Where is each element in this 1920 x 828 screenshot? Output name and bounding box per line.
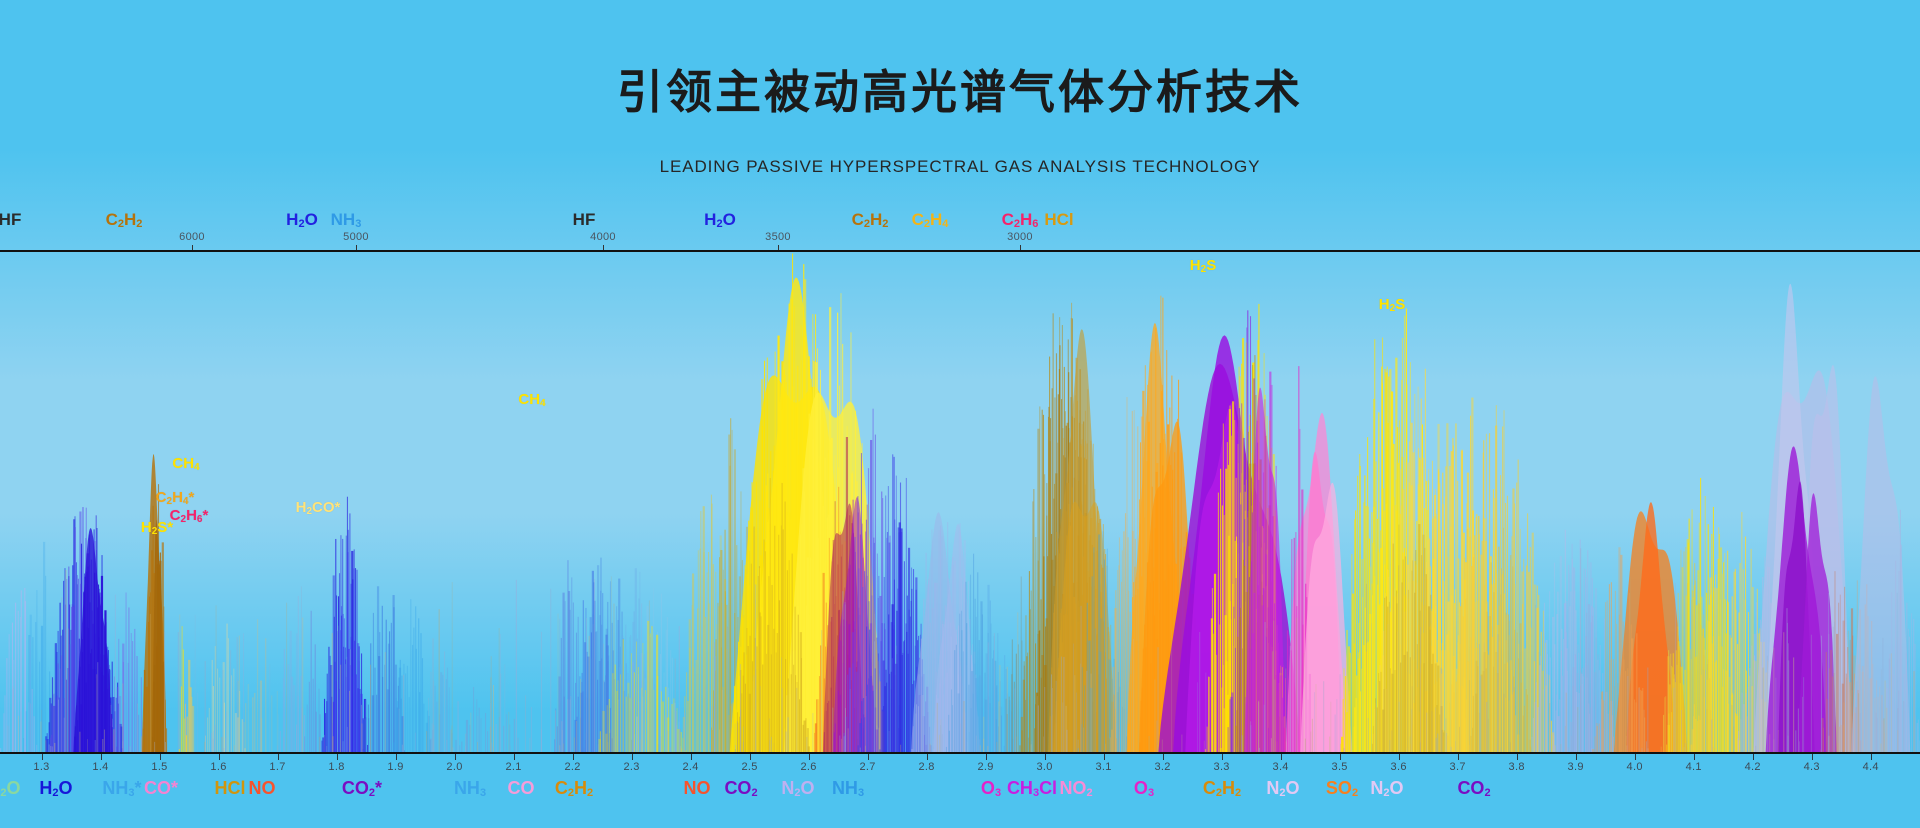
spectrum-plot: H2SCH4H2COH2SH2SCH4C2H4*C2H6*H2S*H2CO*CH… bbox=[0, 252, 1920, 752]
bottom-axis-tick bbox=[1163, 754, 1164, 760]
gas-label-costar: CO* bbox=[144, 778, 178, 799]
gas-label-ch4: CH4 bbox=[172, 455, 199, 473]
bottom-axis-tick-label: 3.4 bbox=[1273, 761, 1289, 773]
gas-label-c2h2: C2H2 bbox=[555, 778, 593, 799]
bottom-axis-tick-label: 3.2 bbox=[1155, 761, 1171, 773]
bottom-axis-tick-label: 1.9 bbox=[387, 761, 403, 773]
bottom-axis-tick-label: 4.2 bbox=[1745, 761, 1761, 773]
top-axis-tick-label: 4000 bbox=[590, 231, 616, 243]
gas-label-n2o: N2O bbox=[1266, 778, 1299, 799]
bottom-axis-tick bbox=[1694, 754, 1695, 760]
gas-label-h2o: H2O bbox=[704, 210, 736, 230]
gas-label-co2: CO2 bbox=[724, 778, 757, 799]
bottom-axis-tick-label: 2.1 bbox=[505, 761, 521, 773]
bottom-axis-tick bbox=[1340, 754, 1341, 760]
bottom-axis-tick bbox=[1635, 754, 1636, 760]
page-subtitle: LEADING PASSIVE HYPERSPECTRAL GAS ANALYS… bbox=[0, 157, 1920, 177]
bottom-axis-tick-label: 3.0 bbox=[1036, 761, 1052, 773]
top-axis-tick-label: 3500 bbox=[765, 231, 791, 243]
gas-label-ch4: CH4 bbox=[518, 391, 545, 409]
bottom-axis-tick-label: 4.0 bbox=[1627, 761, 1643, 773]
bottom-axis-tick-label: 3.7 bbox=[1450, 761, 1466, 773]
gas-label-c2h4: C2H4 bbox=[912, 210, 949, 230]
bottom-axis-tick bbox=[101, 754, 102, 760]
bottom-axis-tick bbox=[42, 754, 43, 760]
bottom-axis-tick bbox=[514, 754, 515, 760]
bottom-axis-tick bbox=[1104, 754, 1105, 760]
gas-label-c2h2: C2H2 bbox=[106, 210, 143, 230]
bottom-axis-tick bbox=[455, 754, 456, 760]
gas-label-co2: CO2 bbox=[1457, 778, 1490, 799]
bottom-axis-tick bbox=[1871, 754, 1872, 760]
gas-label-c2h2: C2H2 bbox=[1203, 778, 1241, 799]
bottom-axis-tick-label: 1.7 bbox=[269, 761, 285, 773]
bottom-axis-tick-label: 3.1 bbox=[1096, 761, 1112, 773]
gas-label-nh3: NH3 bbox=[331, 210, 362, 230]
bottom-axis-tick-label: 2.9 bbox=[977, 761, 993, 773]
gas-label-co: CO bbox=[508, 778, 535, 799]
gas-label-hcl: HCl bbox=[1044, 210, 1073, 230]
bottom-axis-tick bbox=[1045, 754, 1046, 760]
gas-label-c2h4star: C2H4* bbox=[156, 489, 195, 507]
gas-label-h2costar: H2CO* bbox=[296, 499, 341, 517]
gas-label-so2: SO2 bbox=[1326, 778, 1358, 799]
gas-label-o3: O3 bbox=[1134, 778, 1154, 799]
gas-label-n2o: N2O bbox=[0, 778, 21, 799]
gas-label-nh3: NH3 bbox=[454, 778, 486, 799]
gas-label-hf: HF bbox=[0, 210, 21, 230]
bottom-axis-tick-label: 2.8 bbox=[918, 761, 934, 773]
top-axis-tick-label: 5000 bbox=[343, 231, 369, 243]
bottom-axis-tick bbox=[927, 754, 928, 760]
top-axis-wavenumber: 60005000400035003000 HFC2H2H2ONH3HFH2OC2… bbox=[0, 200, 1920, 252]
gas-label-hf: HF bbox=[573, 210, 596, 230]
top-axis-tick-label: 3000 bbox=[1007, 231, 1033, 243]
gas-label-h2o: H2O bbox=[286, 210, 318, 230]
bottom-axis-tick-label: 2.3 bbox=[623, 761, 639, 773]
bottom-axis-tick-label: 4.3 bbox=[1804, 761, 1820, 773]
bottom-axis-tick-label: 1.6 bbox=[210, 761, 226, 773]
bottom-axis-tick-label: 1.4 bbox=[92, 761, 108, 773]
bottom-axis-tick bbox=[396, 754, 397, 760]
gas-label-h2sstar: H2S* bbox=[141, 519, 173, 537]
bottom-axis-tick bbox=[1576, 754, 1577, 760]
gas-label-c2h6: C2H6 bbox=[1002, 210, 1039, 230]
bottom-axis-wavelength: 1.31.41.51.61.71.81.92.02.12.22.32.42.52… bbox=[0, 752, 1920, 828]
bottom-axis-tick-label: 3.5 bbox=[1332, 761, 1348, 773]
bottom-axis-tick-label: 3.6 bbox=[1391, 761, 1407, 773]
gas-label-h2s: H2S bbox=[1379, 296, 1405, 314]
bottom-axis-tick-label: 1.8 bbox=[328, 761, 344, 773]
bottom-axis-tick bbox=[160, 754, 161, 760]
gas-label-no: NO bbox=[249, 778, 276, 799]
bottom-axis-tick bbox=[219, 754, 220, 760]
bottom-axis-tick bbox=[337, 754, 338, 760]
gas-label-n2o: N2O bbox=[1370, 778, 1403, 799]
gas-label-co2star: CO2* bbox=[342, 778, 382, 799]
bottom-axis-tick-label: 2.4 bbox=[682, 761, 698, 773]
bottom-axis-tick-label: 1.3 bbox=[33, 761, 49, 773]
bottom-axis-tick bbox=[1458, 754, 1459, 760]
bottom-axis-tick-label: 2.5 bbox=[741, 761, 757, 773]
bottom-axis-tick bbox=[278, 754, 279, 760]
gas-label-hcl: HCl bbox=[215, 778, 246, 799]
gas-label-c2h6star: C2H6* bbox=[170, 507, 209, 525]
bottom-axis-tick bbox=[868, 754, 869, 760]
bottom-axis-tick-label: 2.2 bbox=[564, 761, 580, 773]
bottom-axis-tick bbox=[1812, 754, 1813, 760]
bottom-axis-tick bbox=[1517, 754, 1518, 760]
top-axis-tick-label: 6000 bbox=[179, 231, 205, 243]
bottom-axis-tick bbox=[986, 754, 987, 760]
bottom-axis-tick-label: 4.4 bbox=[1863, 761, 1879, 773]
bottom-axis-tick bbox=[1281, 754, 1282, 760]
bottom-axis-tick-label: 3.8 bbox=[1509, 761, 1525, 773]
bottom-axis-tick-label: 2.7 bbox=[859, 761, 875, 773]
gas-label-c2h2: C2H2 bbox=[852, 210, 889, 230]
bottom-axis-line bbox=[0, 752, 1920, 754]
gas-label-h2s: H2S bbox=[1190, 257, 1216, 275]
bottom-axis-tick-label: 2.0 bbox=[446, 761, 462, 773]
bottom-axis-tick bbox=[809, 754, 810, 760]
bottom-axis-tick bbox=[1753, 754, 1754, 760]
gas-label-no2: NO2 bbox=[1059, 778, 1092, 799]
gas-label-h2o: H2O bbox=[39, 778, 72, 799]
gas-label-no: NO bbox=[684, 778, 711, 799]
bottom-axis-tick-label: 2.6 bbox=[800, 761, 816, 773]
gas-label-nh3star: NH3* bbox=[102, 778, 141, 799]
gas-label-n2o: N2O bbox=[781, 778, 814, 799]
bottom-axis-tick bbox=[750, 754, 751, 760]
bottom-axis-tick-label: 4.1 bbox=[1686, 761, 1702, 773]
bottom-axis-tick-label: 3.3 bbox=[1214, 761, 1230, 773]
gas-label-o3: O3 bbox=[981, 778, 1001, 799]
page-title: 引领主被动高光谱气体分析技术 bbox=[0, 56, 1920, 122]
gas-label-nh3: NH3 bbox=[832, 778, 864, 799]
spectrum-canvas bbox=[0, 252, 1920, 752]
bottom-axis-tick bbox=[1399, 754, 1400, 760]
bottom-axis-tick bbox=[573, 754, 574, 760]
bottom-axis-tick bbox=[1222, 754, 1223, 760]
gas-label-ch3cl: CH3Cl bbox=[1007, 778, 1057, 799]
bottom-axis-tick bbox=[632, 754, 633, 760]
bottom-axis-tick bbox=[691, 754, 692, 760]
page-header: 引领主被动高光谱气体分析技术 LEADING PASSIVE HYPERSPEC… bbox=[0, 0, 1920, 200]
bottom-axis-tick-label: 3.9 bbox=[1568, 761, 1584, 773]
bottom-axis-tick-label: 1.5 bbox=[151, 761, 167, 773]
